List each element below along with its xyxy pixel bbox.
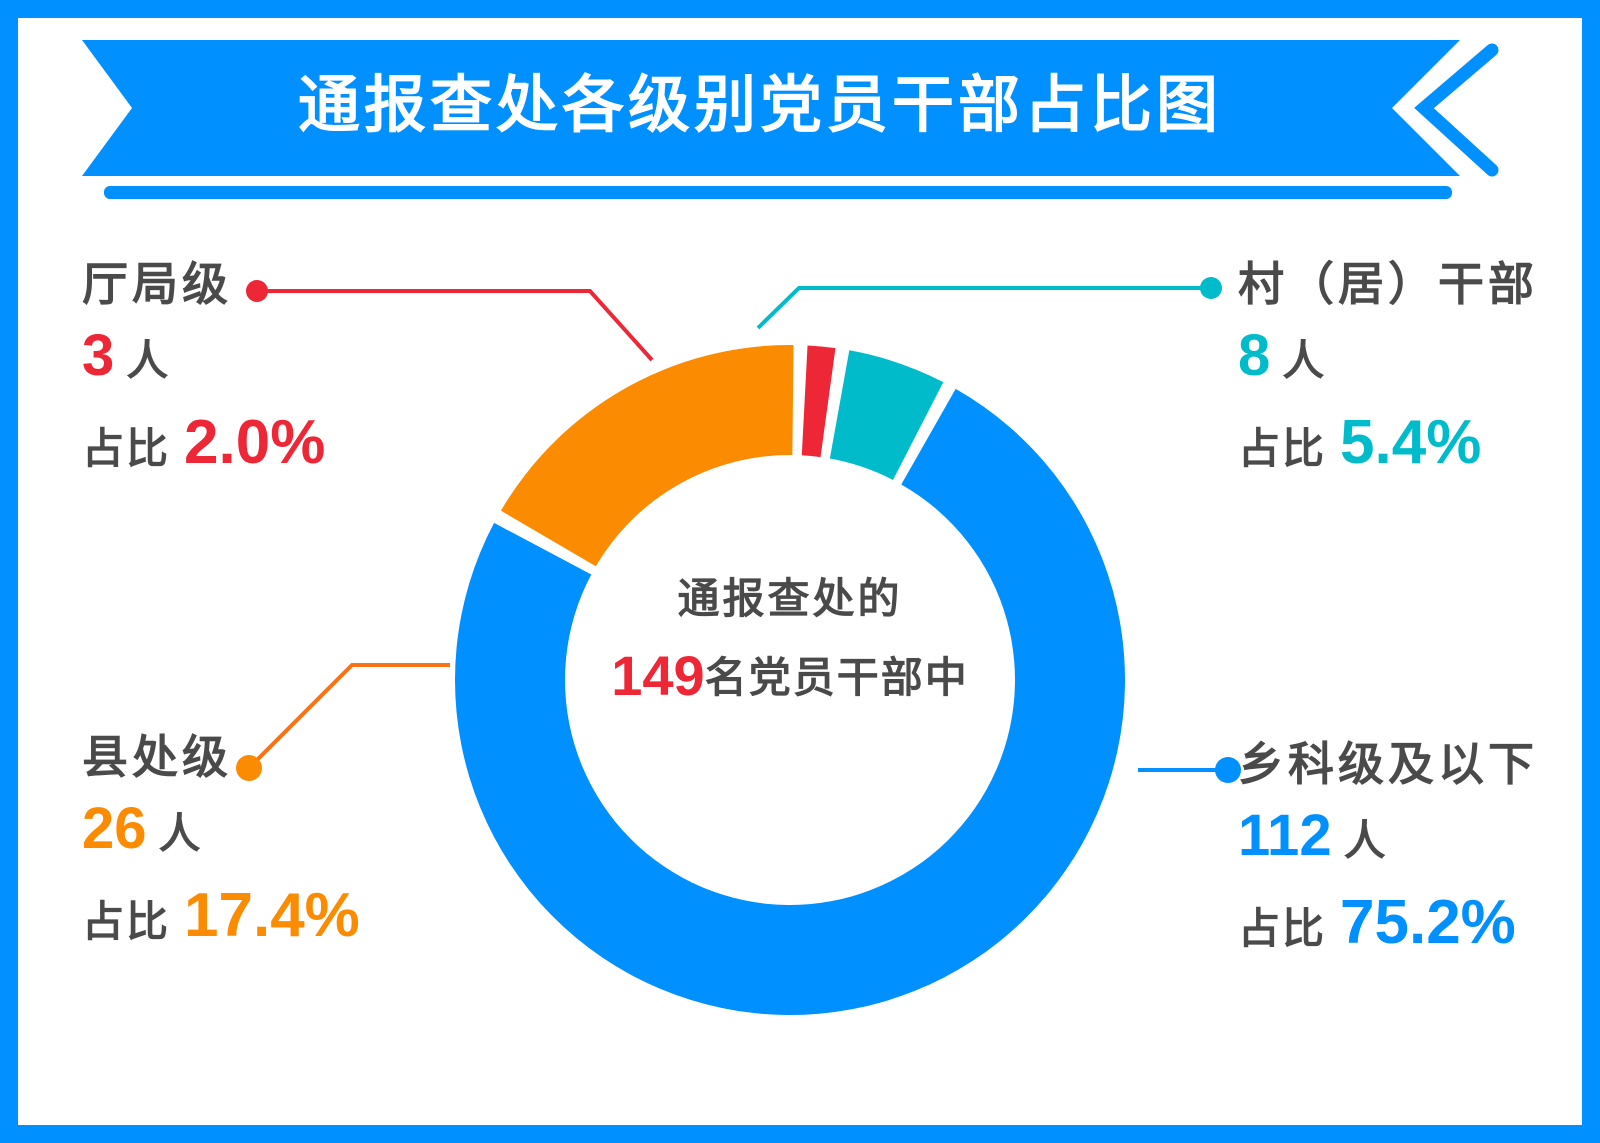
callout-cun-pct-value: 5.4%: [1340, 408, 1481, 477]
callout-xiang-pct-row: 占比75.2%: [1238, 888, 1538, 974]
leader-line-xiang: [1138, 757, 1241, 783]
donut-center-total: 149: [611, 644, 704, 707]
callout-xiang-unit: 人: [1344, 817, 1386, 864]
callout-ting-count: 3: [82, 323, 114, 388]
callout-xiang-count: 112: [1238, 803, 1332, 868]
donut-slice-ting[interactable]: [802, 345, 836, 457]
callout-cun[interactable]: 村（居）干部 8人 占比5.4%: [1238, 255, 1538, 494]
callout-xian-count: 26: [82, 796, 147, 861]
callout-cun-pct-row: 占比5.4%: [1238, 408, 1538, 494]
donut-slice-xian[interactable]: [501, 345, 794, 566]
leader-dot-cun: [1200, 277, 1222, 299]
callout-cun-pct-label: 占比: [1238, 425, 1326, 472]
callout-xiang-pct-label: 占比: [1238, 905, 1326, 952]
donut-center-line1: 通报查处的: [555, 565, 1025, 626]
callout-ting-name: 厅局级: [82, 255, 325, 313]
callout-ting-pct-value: 2.0%: [184, 408, 325, 477]
leader-line-cun: [758, 277, 1222, 328]
infographic-canvas: 通报查处各级别党员干部占比图: [0, 0, 1600, 1143]
callout-cun-unit: 人: [1282, 337, 1324, 384]
callout-xian-pct-value: 17.4%: [184, 881, 360, 950]
callout-xiang-name: 乡科级及以下: [1238, 735, 1538, 793]
callout-xiang-count-row: 112人: [1238, 803, 1538, 884]
callout-cun-count: 8: [1238, 323, 1270, 388]
callout-ting[interactable]: 厅局级 3人 占比2.0%: [82, 255, 325, 494]
callout-xian-unit: 人: [159, 810, 201, 857]
callout-ting-unit: 人: [126, 337, 168, 384]
callout-ting-pct-row: 占比2.0%: [82, 408, 325, 494]
callout-cun-count-row: 8人: [1238, 323, 1538, 404]
callout-xiang-pct-value: 75.2%: [1340, 888, 1516, 957]
callout-xian-pct-row: 占比17.4%: [82, 881, 360, 967]
callout-xiang[interactable]: 乡科级及以下 112人 占比75.2%: [1238, 735, 1538, 974]
callout-xian-pct-label: 占比: [82, 898, 170, 945]
callout-xian-count-row: 26人: [82, 796, 360, 877]
donut-center-suffix: 名党员干部中: [705, 654, 969, 701]
callout-xian-name: 县处级: [82, 728, 360, 786]
callout-xian[interactable]: 县处级 26人 占比17.4%: [82, 728, 360, 967]
callout-ting-pct-label: 占比: [82, 425, 170, 472]
callout-ting-count-row: 3人: [82, 323, 325, 404]
callout-cun-name: 村（居）干部: [1238, 255, 1538, 313]
donut-center-line2: 149名党员干部中: [555, 643, 1025, 708]
